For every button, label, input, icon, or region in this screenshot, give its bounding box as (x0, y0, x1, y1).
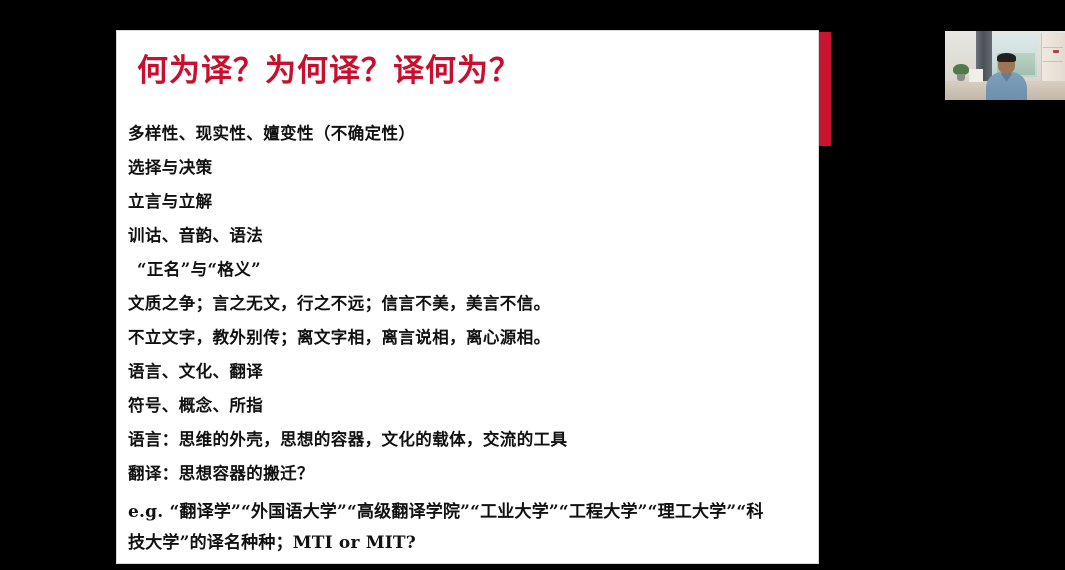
slide-bullet-line: 语言、文化、翻译 (128, 355, 806, 389)
slide-bullet-line: 多样性、现实性、嬗变性（不确定性） (128, 117, 806, 151)
slide-bullet-line: “正名”与“格义” (128, 253, 806, 287)
presentation-stage: 何为译？为何译？译何为？ 多样性、现实性、嬗变性（不确定性） 选择与决策 立言与… (0, 0, 1065, 570)
video-cabinet (969, 69, 983, 82)
slide-bullet-line: 语言：思维的外壳，思想的容器，文化的载体，交流的工具 (128, 423, 806, 457)
slide-bullet-line: 符号、概念、所指 (128, 389, 806, 423)
slide-bullet-line: 立言与立解 (128, 185, 806, 219)
slide-bullet-line: 翻译：思想容器的搬迁？ (128, 457, 806, 491)
video-shelf-object (1053, 50, 1059, 53)
slide-body: 多样性、现实性、嬗变性（不确定性） 选择与决策 立言与立解 训诂、音韵、语法 “… (128, 117, 806, 559)
presentation-slide: 何为译？为何译？译何为？ 多样性、现实性、嬗变性（不确定性） 选择与决策 立言与… (117, 31, 818, 563)
slide-bullet-line: 不立文字，教外别传；离文字相，离言说相，离心源相。 (128, 321, 806, 355)
slide-bullet-line: 训诂、音韵、语法 (128, 219, 806, 253)
video-plant-pot (957, 74, 965, 81)
video-shelf-divider (1043, 61, 1063, 62)
slide-bullet-line: 文质之争；言之无文，行之不远；信言不美，美言不信。 (128, 287, 806, 321)
video-shelf (1041, 33, 1065, 83)
video-speaker-hair (997, 53, 1016, 62)
slide-bullet-line: 选择与决策 (128, 151, 806, 185)
speaker-video-tile[interactable] (945, 31, 1065, 100)
slide-example-paragraph: e.g. “翻译学”“外国语大学”“高级翻译学院”“工业大学”“工程大学”“理工… (128, 497, 778, 559)
slide-accent-bar (819, 32, 831, 146)
slide-title: 何为译？为何译？译何为？ (137, 53, 797, 89)
video-shelf-divider (1043, 47, 1063, 48)
